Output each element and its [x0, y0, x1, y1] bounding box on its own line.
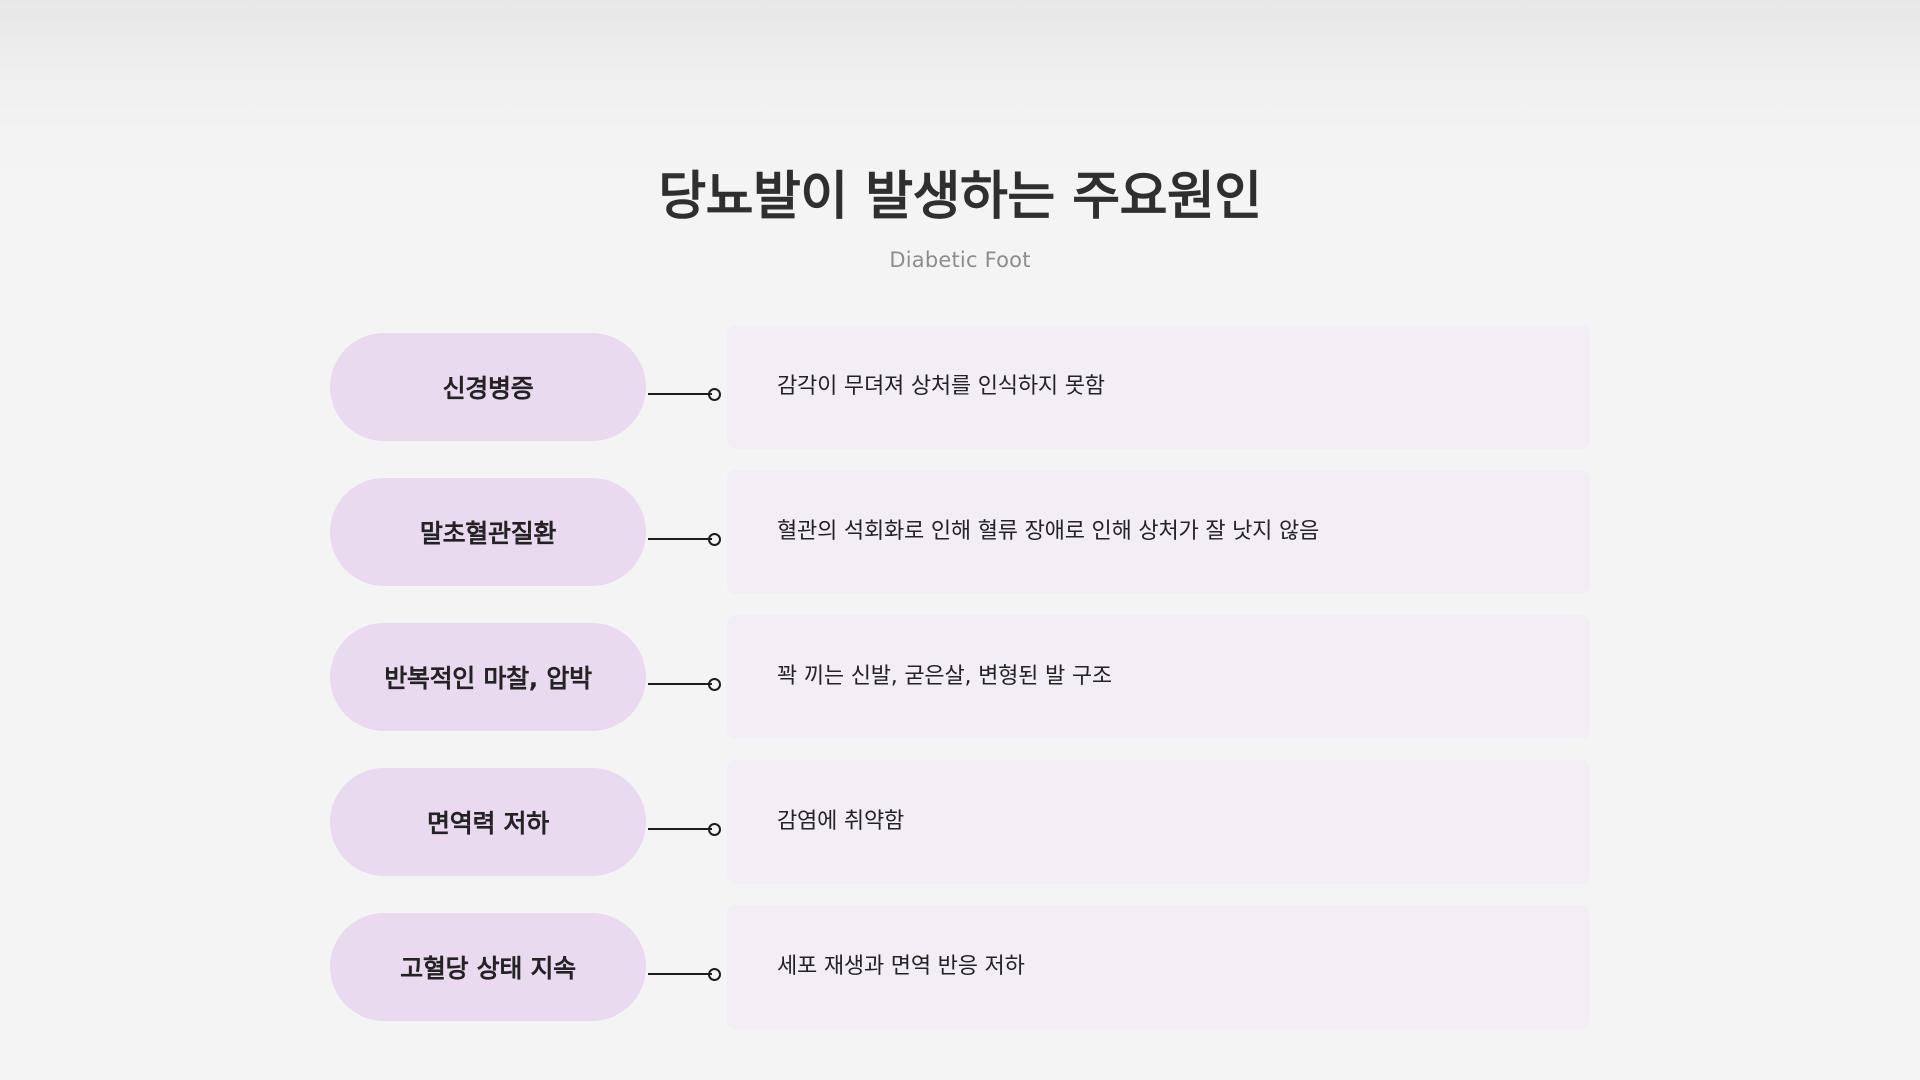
connector-endpoint-icon: [708, 533, 721, 546]
description-panel[interactable]: 꽉 끼는 신발, 굳은살, 변형된 발 구조: [727, 615, 1590, 739]
connector: [648, 386, 728, 402]
page-subtitle: Diabetic Foot: [0, 248, 1920, 272]
description-text: 감염에 취약함: [777, 807, 904, 838]
cause-pill-weakened-immunity[interactable]: 면역력 저하: [330, 768, 646, 876]
connector-endpoint-icon: [708, 823, 721, 836]
description-panel[interactable]: 감각이 무뎌져 상처를 인식하지 못함: [727, 325, 1590, 449]
description-text: 세포 재생과 면역 반응 저하: [777, 952, 1025, 983]
header: 당뇨발이 발생하는 주요원인 Diabetic Foot: [0, 168, 1920, 272]
cause-pill-label: 고혈당 상태 지속: [400, 949, 576, 985]
cause-list: 신경병증 감각이 무뎌져 상처를 인식하지 못함 말초혈관질환 혈관의 석회화로…: [0, 325, 1920, 1050]
cause-pill-repetitive-friction-pressure[interactable]: 반복적인 마찰, 압박: [330, 623, 646, 731]
connector-line-icon: [648, 393, 712, 395]
cause-row: 면역력 저하 감염에 취약함: [0, 760, 1920, 884]
connector-line-icon: [648, 973, 712, 975]
cause-row: 말초혈관질환 혈관의 석회화로 인해 혈류 장애로 인해 상처가 잘 낫지 않음: [0, 470, 1920, 594]
cause-pill-label: 말초혈관질환: [420, 514, 556, 550]
connector-endpoint-icon: [708, 388, 721, 401]
description-text: 꽉 끼는 신발, 굳은살, 변형된 발 구조: [777, 662, 1112, 693]
connector-endpoint-icon: [708, 678, 721, 691]
cause-pill-neuropathy[interactable]: 신경병증: [330, 333, 646, 441]
description-text: 혈관의 석회화로 인해 혈류 장애로 인해 상처가 잘 낫지 않음: [777, 517, 1319, 548]
description-panel[interactable]: 세포 재생과 면역 반응 저하: [727, 905, 1590, 1029]
connector: [648, 966, 728, 982]
connector: [648, 676, 728, 692]
description-panel[interactable]: 감염에 취약함: [727, 760, 1590, 884]
connector-endpoint-icon: [708, 968, 721, 981]
connector: [648, 821, 728, 837]
description-text: 감각이 무뎌져 상처를 인식하지 못함: [777, 372, 1105, 403]
infographic-canvas: 당뇨발이 발생하는 주요원인 Diabetic Foot 신경병증 감각이 무뎌…: [0, 0, 1920, 1080]
cause-pill-label: 신경병증: [443, 369, 534, 405]
connector: [648, 531, 728, 547]
cause-pill-sustained-hyperglycemia[interactable]: 고혈당 상태 지속: [330, 913, 646, 1021]
cause-row: 반복적인 마찰, 압박 꽉 끼는 신발, 굳은살, 변형된 발 구조: [0, 615, 1920, 739]
cause-row: 고혈당 상태 지속 세포 재생과 면역 반응 저하: [0, 905, 1920, 1029]
cause-row: 신경병증 감각이 무뎌져 상처를 인식하지 못함: [0, 325, 1920, 449]
description-panel[interactable]: 혈관의 석회화로 인해 혈류 장애로 인해 상처가 잘 낫지 않음: [727, 470, 1590, 594]
connector-line-icon: [648, 538, 712, 540]
cause-pill-peripheral-vascular-disease[interactable]: 말초혈관질환: [330, 478, 646, 586]
cause-pill-label: 면역력 저하: [427, 804, 549, 840]
connector-line-icon: [648, 828, 712, 830]
connector-line-icon: [648, 683, 712, 685]
page-title: 당뇨발이 발생하는 주요원인: [0, 168, 1920, 228]
cause-pill-label: 반복적인 마찰, 압박: [384, 659, 592, 695]
